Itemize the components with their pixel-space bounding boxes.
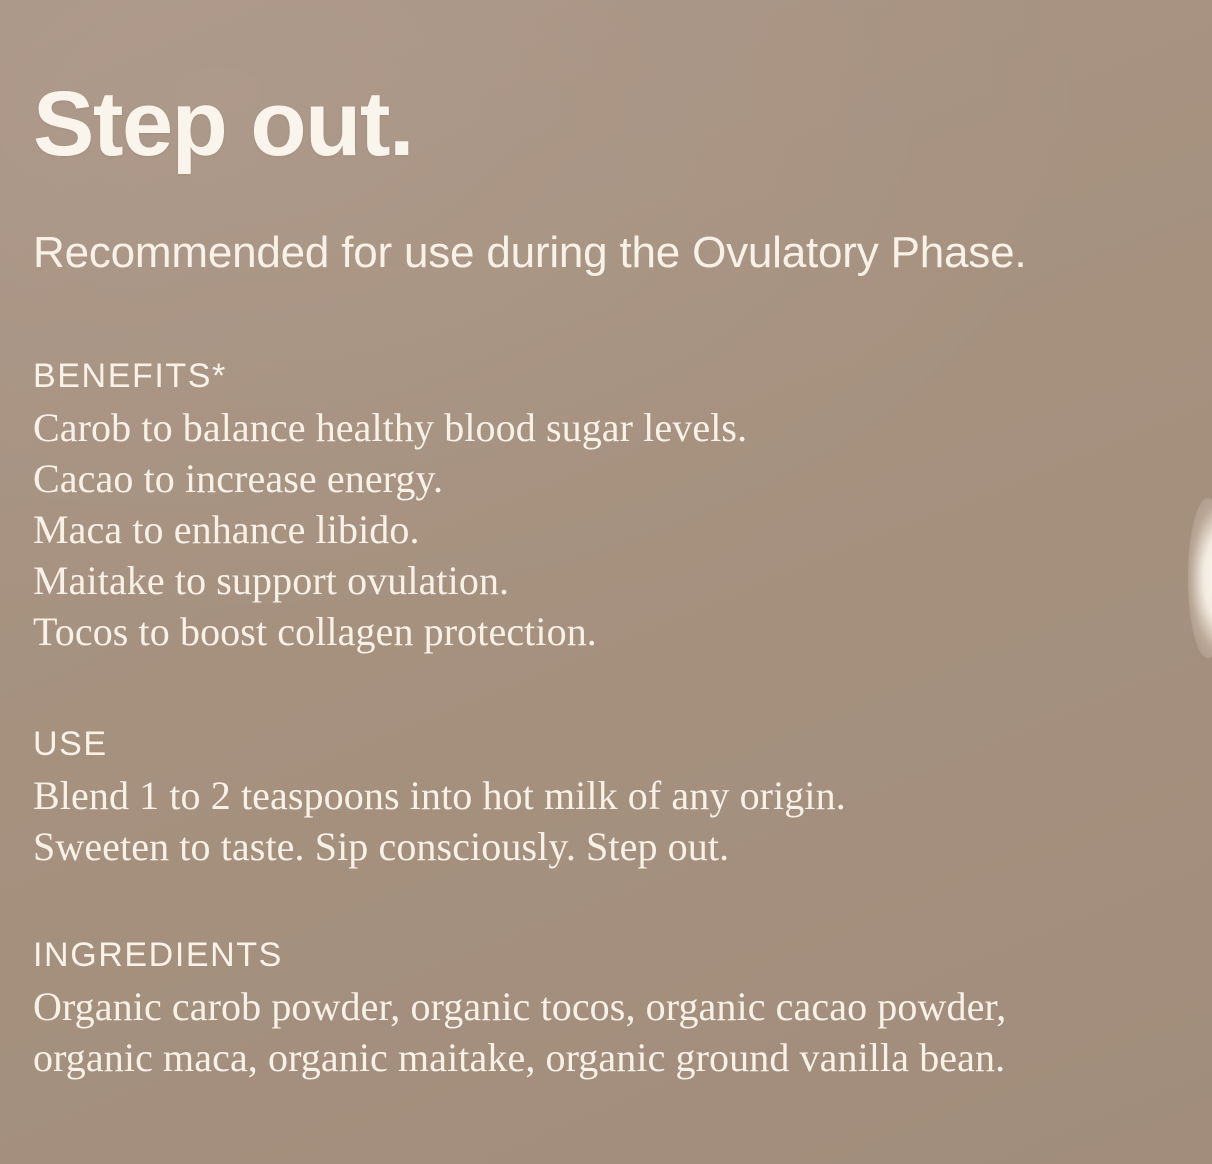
section-use: USE Blend 1 to 2 teaspoons into hot milk…: [33, 725, 1212, 872]
subtitle: Recommended for use during the Ovulatory…: [33, 228, 1026, 279]
section-heading-use: USE: [33, 725, 1212, 763]
benefit-line: Maca to enhance libido.: [33, 504, 1212, 555]
ingredients-line: Organic carob powder, organic tocos, org…: [33, 981, 1212, 1032]
benefit-line: Carob to balance healthy blood sugar lev…: [33, 402, 1212, 453]
benefit-line: Cacao to increase energy.: [33, 453, 1212, 504]
page-title: Step out.: [33, 78, 413, 170]
section-ingredients: INGREDIENTS Organic carob powder, organi…: [33, 936, 1212, 1083]
benefit-line: Tocos to boost collagen protection.: [33, 606, 1212, 657]
section-heading-ingredients: INGREDIENTS: [33, 936, 1212, 974]
benefit-line: Maitake to support ovulation.: [33, 555, 1212, 606]
ingredients-line: organic maca, organic maitake, organic g…: [33, 1032, 1212, 1083]
use-line: Sweeten to taste. Sip consciously. Step …: [33, 821, 1212, 872]
use-line: Blend 1 to 2 teaspoons into hot milk of …: [33, 770, 1212, 821]
product-label-panel: Step out. Recommended for use during the…: [0, 0, 1212, 1164]
section-benefits: BENEFITS* Carob to balance healthy blood…: [33, 357, 1212, 657]
section-heading-benefits: BENEFITS*: [33, 357, 1212, 395]
